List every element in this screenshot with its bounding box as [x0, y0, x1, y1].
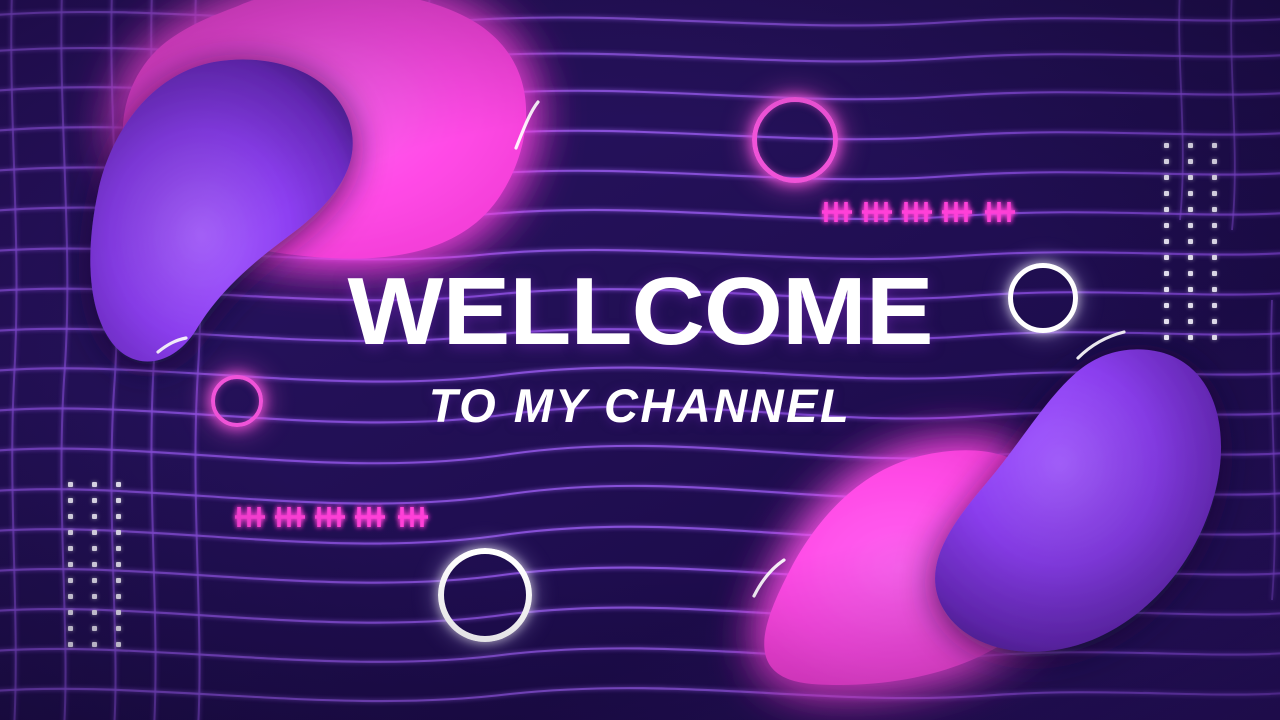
grid-dot	[68, 498, 73, 503]
grid-dot	[116, 642, 121, 647]
grid-dot	[116, 530, 121, 535]
tally-marks-lower-left	[235, 503, 437, 533]
grid-dot	[1212, 143, 1217, 148]
page-subtitle: TO MY CHANNEL	[0, 378, 1280, 433]
grid-dot	[1164, 175, 1169, 180]
grid-dot	[1188, 191, 1193, 196]
ring-pink-top-right	[752, 97, 838, 183]
grid-dot	[92, 498, 97, 503]
grid-dot	[1164, 223, 1169, 228]
grid-dot	[1164, 239, 1169, 244]
grid-dot	[1212, 207, 1217, 212]
grid-dot	[92, 562, 97, 567]
grid-dot	[1164, 159, 1169, 164]
grid-dot	[1164, 255, 1169, 260]
grid-dot	[68, 482, 73, 487]
grid-dot	[1188, 159, 1193, 164]
grid-dot	[92, 642, 97, 647]
grid-dot	[1212, 191, 1217, 196]
grid-dot	[1212, 175, 1217, 180]
grid-dot	[92, 594, 97, 599]
grid-dot	[116, 594, 121, 599]
grid-dot	[1188, 239, 1193, 244]
grid-dot	[92, 530, 97, 535]
grid-dot	[68, 578, 73, 583]
grid-dot	[68, 594, 73, 599]
grid-dot	[1188, 223, 1193, 228]
grid-dot	[1164, 207, 1169, 212]
grid-dot	[1188, 143, 1193, 148]
grid-dot	[116, 610, 121, 615]
grid-dot	[116, 498, 121, 503]
grid-dot	[92, 626, 97, 631]
banner-text-block: WELLCOME TO MY CHANNEL	[0, 268, 1280, 433]
grid-dot	[116, 562, 121, 567]
grid-dot	[68, 546, 73, 551]
grid-dot	[92, 578, 97, 583]
grid-dot	[68, 626, 73, 631]
dot-grid-left	[68, 482, 121, 647]
grid-dot	[68, 642, 73, 647]
grid-dot	[92, 514, 97, 519]
grid-dot	[92, 546, 97, 551]
grid-dot	[1188, 207, 1193, 212]
grid-dot	[116, 482, 121, 487]
grid-dot	[116, 514, 121, 519]
grid-dot	[1188, 255, 1193, 260]
welcome-banner: WELLCOME TO MY CHANNEL	[0, 0, 1280, 720]
grid-dot	[68, 562, 73, 567]
ring-white-bottom	[438, 548, 532, 642]
grid-dot	[1212, 239, 1217, 244]
tally-marks-upper-right	[822, 198, 1024, 228]
grid-dot	[116, 626, 121, 631]
grid-dot	[68, 610, 73, 615]
grid-dot	[1212, 255, 1217, 260]
grid-dot	[1212, 223, 1217, 228]
grid-dot	[1164, 191, 1169, 196]
grid-dot	[68, 530, 73, 535]
grid-dot	[1164, 143, 1169, 148]
grid-dot	[92, 610, 97, 615]
grid-dot	[116, 578, 121, 583]
grid-dot	[92, 482, 97, 487]
grid-dot	[116, 546, 121, 551]
grid-dot	[1188, 175, 1193, 180]
grid-dot	[68, 514, 73, 519]
page-title: WELLCOME	[0, 268, 1280, 356]
grid-dot	[1212, 159, 1217, 164]
